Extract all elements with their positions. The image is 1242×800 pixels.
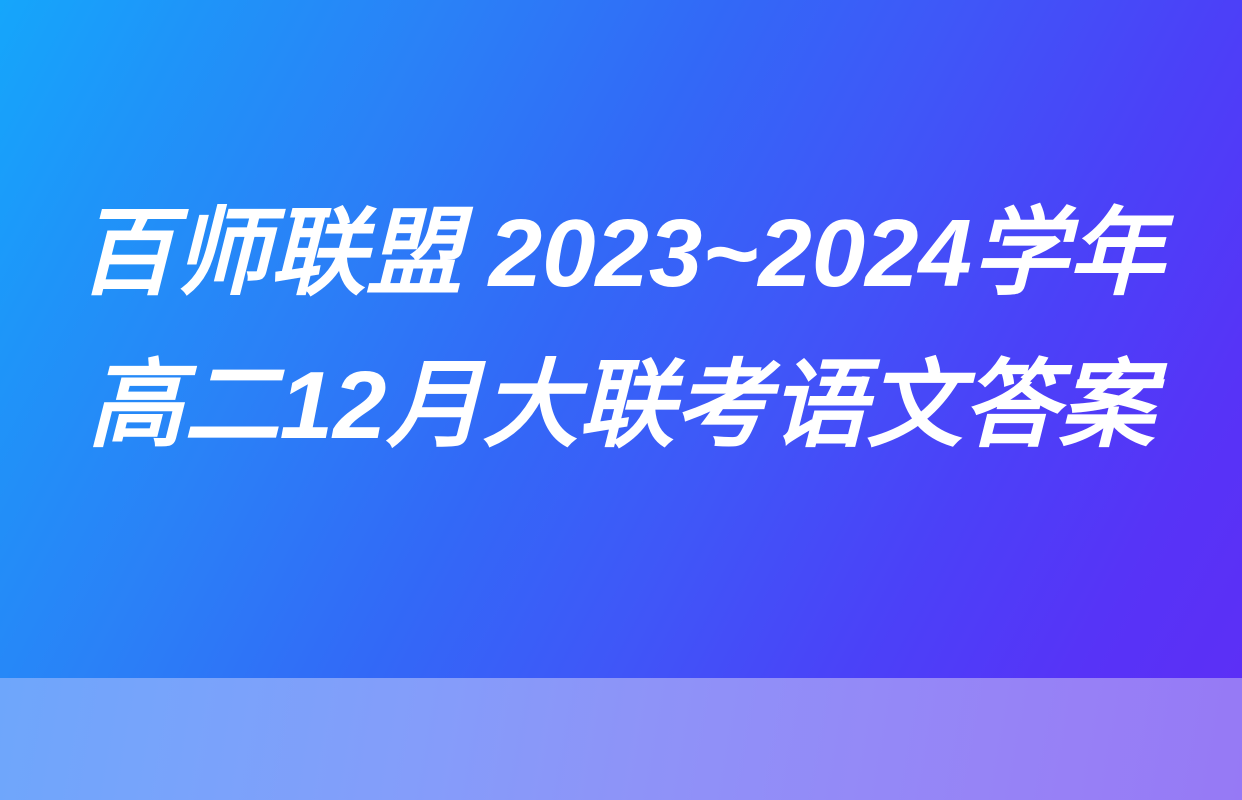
hero-gradient-banner: 百师联盟 2023~2024学年高二12月大联考语文答案: [0, 0, 1242, 678]
answer-poster: 百师联盟 2023~2024学年高二12月大联考语文答案 答案解析网APP: [0, 0, 1242, 800]
footer-watermark-band: 答案解析网APP: [0, 678, 1242, 800]
page-title: 百师联盟 2023~2024学年高二12月大联考语文答案: [50, 178, 1192, 482]
